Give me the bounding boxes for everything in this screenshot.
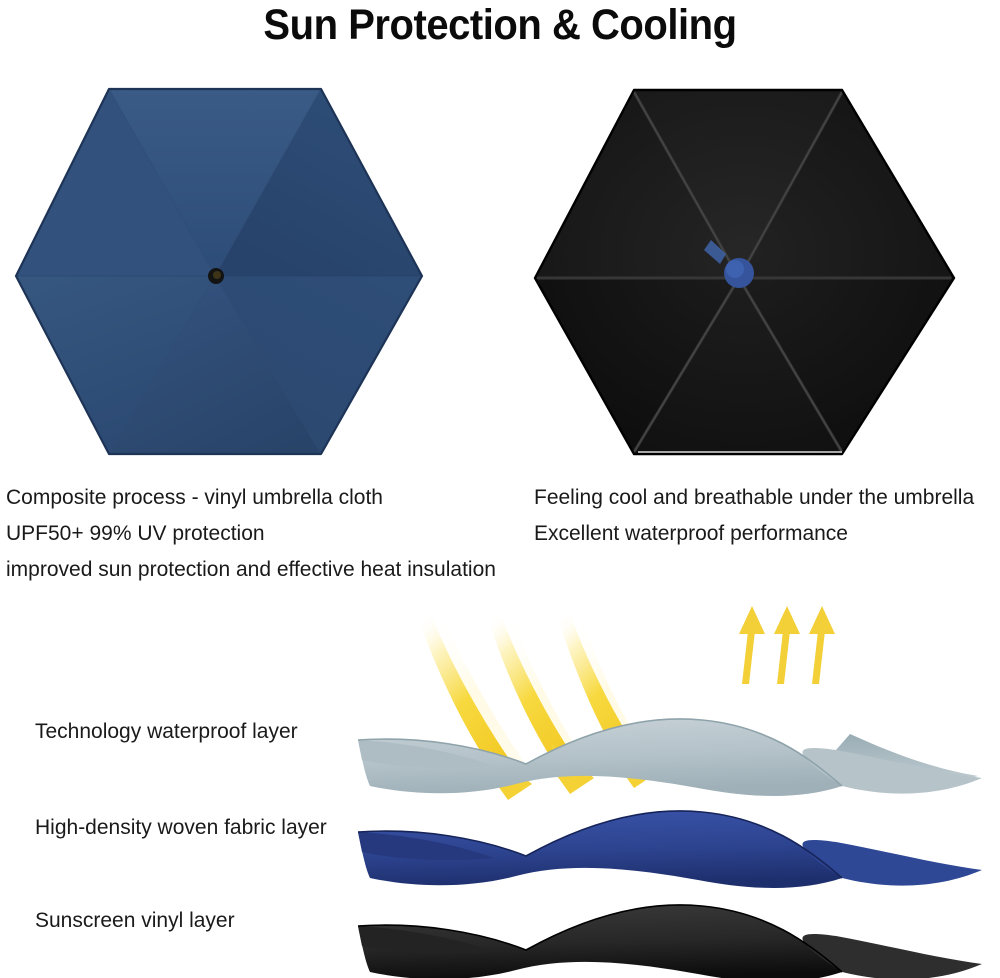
infographic-page: Sun Protection & Cooling — [0, 0, 1000, 978]
layer-label-woven-fabric: High-density woven fabric layer — [35, 815, 327, 841]
feature-line: Excellent waterproof performance — [534, 516, 974, 552]
layer-label-waterproof: Technology waterproof layer — [35, 719, 298, 745]
outgoing-heat-arrows — [739, 606, 835, 684]
page-title: Sun Protection & Cooling — [35, 0, 965, 50]
black-umbrella-svg — [530, 82, 970, 462]
heat-arrow-1 — [739, 606, 765, 684]
fabric-layer-diagram — [330, 600, 1000, 978]
layer-sheet-waterproof — [358, 719, 982, 796]
feature-line: Feeling cool and breathable under the um… — [534, 480, 974, 516]
center-knob-highlight — [213, 271, 221, 279]
heat-arrow-3 — [809, 606, 835, 684]
layer-label-sunscreen-vinyl: Sunscreen vinyl layer — [35, 908, 235, 934]
feature-line: Composite process - vinyl umbrella cloth — [6, 480, 496, 516]
feature-line: UPF50+ 99% UV protection — [6, 516, 496, 552]
layer-sheet-sunscreen-vinyl — [358, 905, 982, 978]
feature-line: improved sun protection and effective he… — [6, 552, 496, 588]
runner-hub-highlight — [726, 260, 744, 278]
navy-umbrella-image — [10, 82, 435, 462]
layer-sheet-woven-fabric — [358, 811, 982, 888]
heat-arrow-2 — [774, 606, 800, 684]
black-umbrella-image — [530, 82, 970, 462]
navy-umbrella-svg — [10, 82, 435, 462]
navy-umbrella-features: Composite process - vinyl umbrella cloth… — [6, 480, 496, 588]
black-umbrella-features: Feeling cool and breathable under the um… — [534, 480, 974, 552]
